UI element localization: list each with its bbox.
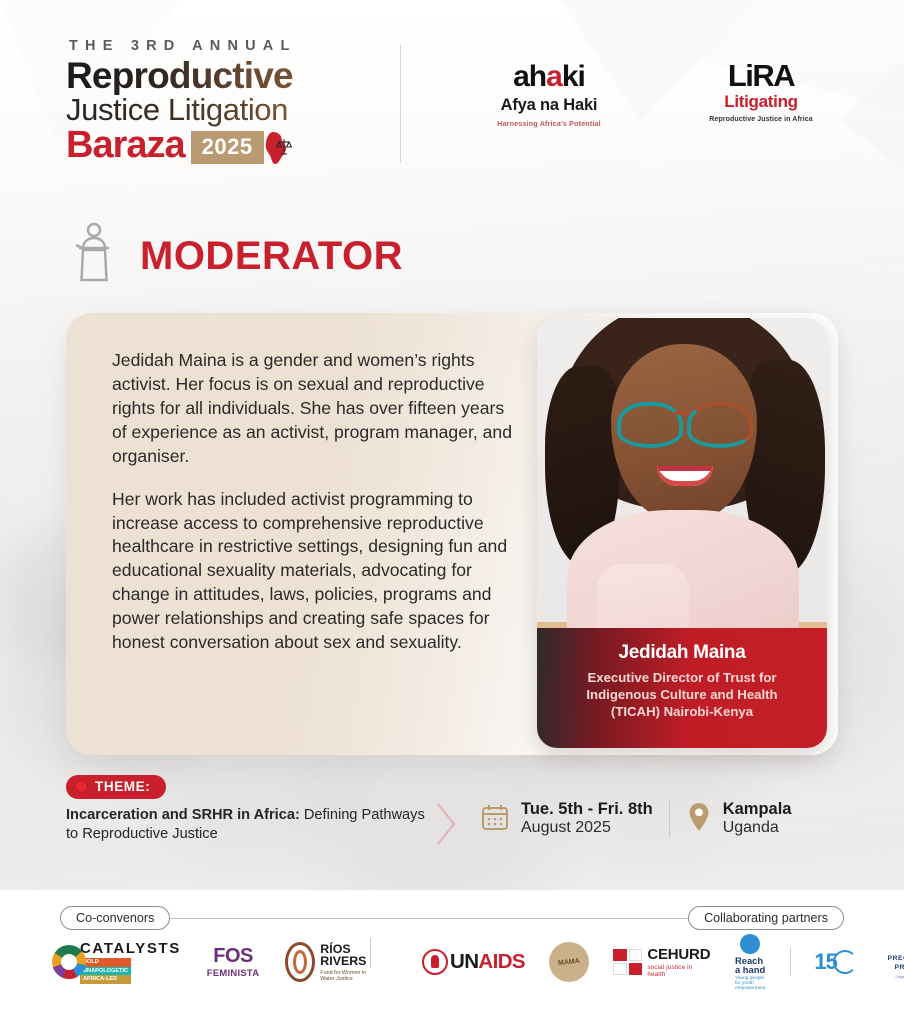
event-meta: Tue. 5th - Fri. 8th August 2025 Kampala … [480, 800, 791, 838]
event-date-line1: Tue. 5th - Fri. 8th [521, 800, 653, 818]
ahaki-word-end: ki [562, 60, 585, 93]
catalysts-wordmark: CATALYSTS BOLD UNAPOLOGETIC AFRICA-LED [80, 941, 181, 984]
event-title-line1: Reproductive [66, 57, 366, 95]
cehurd-name: CEHURD [647, 947, 711, 962]
africa-scales-icon [260, 130, 294, 164]
lira-wordmark: LiRA [728, 60, 794, 91]
logo-unaids: UNAIDS [422, 949, 525, 975]
catalysts-name: CATALYSTS [80, 941, 181, 956]
speaker-role-line2: Indigenous Culture and Health [551, 687, 813, 704]
cehurd-mark-icon [613, 949, 642, 975]
co-convenors-group: CATALYSTS BOLD UNAPOLOGETIC AFRICA-LED F… [52, 941, 372, 984]
event-location: Kampala Uganda [686, 800, 792, 838]
poster-footer: Co-convenors Collaborating partners CATA… [0, 890, 904, 1024]
poster-header: THE 3RD ANNUAL Reproductive Justice Liti… [0, 0, 904, 190]
fos-subtitle: FEMINISTA [207, 967, 260, 978]
logo-preclusion-project: THE PRECLUSION PROJECT Litigation for Ju… [881, 943, 904, 981]
event-location-text: Kampala Uganda [723, 800, 792, 838]
glasses-lens-right [687, 402, 753, 448]
collaborating-partners-group: UNAIDS MAMA CEHURD social justice in hea… [422, 934, 904, 991]
theme-block: THEME: Incarceration and SRHR in Africa:… [66, 775, 426, 845]
preclusion-subtitle: Litigation for Justice [881, 975, 904, 979]
catalysts-tagline-3: AFRICA-LED [80, 975, 131, 984]
logo-ahaki: ahaki Afya na Haki Harnessing Africa's P… [484, 62, 614, 128]
anniversary-swirl-icon [833, 950, 857, 974]
logo-cehurd: CEHURD social justice in health [613, 947, 711, 978]
logo-15-anniversary: 15 [814, 949, 856, 975]
event-date-text: Tue. 5th - Fri. 8th August 2025 [521, 800, 653, 838]
calendar-icon [480, 802, 510, 837]
unaids-emblem-icon [422, 949, 448, 975]
catalysts-tagline-1: BOLD [80, 958, 131, 967]
theme-title-bold: Incarceration and SRHR in Africa: [66, 807, 300, 823]
event-title-line2: Justice Litigation [66, 93, 366, 127]
event-kicker: THE 3RD ANNUAL [69, 38, 366, 54]
reach-a-hand-globe-icon [740, 934, 760, 954]
ahaki-word-accent: a [546, 60, 562, 93]
mama-circle-icon: MAMA [549, 942, 589, 982]
chevron-right-icon [434, 800, 460, 848]
rios-subtitle: RIVERS [320, 955, 376, 968]
lira-tagline: Reproductive Justice in Africa [700, 116, 822, 123]
event-logo: THE 3RD ANNUAL Reproductive Justice Liti… [66, 38, 366, 164]
ahaki-tagline: Harnessing Africa's Potential [484, 119, 614, 128]
rios-ring-icon [285, 942, 315, 982]
logo-rios-rivers: RÍOS RIVERS Fund for Women in Water Just… [285, 942, 376, 982]
event-location-line2: Uganda [723, 819, 792, 838]
speaker-role-line3: (TICAH) Nairobi-Kenya [551, 704, 813, 721]
event-date: Tue. 5th - Fri. 8th August 2025 [480, 800, 653, 838]
bio-paragraph-1: Jedidah Maina is a gender and women’s ri… [112, 349, 522, 469]
logo-fos-feminista: FOS FEMINISTA [207, 946, 260, 978]
event-year-badge: 2025 [191, 131, 264, 164]
event-title-line3: Baraza [66, 126, 185, 164]
mama-name: MAMA [558, 958, 580, 967]
collaborating-partners-label: Collaborating partners [688, 906, 844, 930]
header-divider [400, 45, 401, 163]
moderator-heading-row: MODERATOR [70, 222, 403, 289]
meta-divider [669, 800, 670, 838]
bio-text: Jedidah Maina is a gender and women’s ri… [112, 349, 522, 655]
theme-title: Incarceration and SRHR in Africa: Defini… [66, 806, 426, 845]
logo-lira: LiRA Litigating Reproductive Justice in … [700, 60, 822, 123]
footer-logos: CATALYSTS BOLD UNAPOLOGETIC AFRICA-LED F… [52, 934, 852, 991]
cehurd-subtitle: social justice in health [647, 964, 711, 978]
ahaki-subtitle: Afya na Haki [484, 96, 614, 115]
portrait-glasses [617, 402, 753, 442]
speaker-role-line1: Executive Director of Trust for [551, 670, 813, 687]
speaker-photo-card: Jedidah Maina Executive Director of Trus… [537, 318, 827, 748]
logo-reach-a-hand: Reach a hand Young people for youth empo… [735, 934, 766, 991]
theme-badge: THEME: [66, 775, 166, 799]
map-pin-icon [686, 801, 712, 838]
co-convenors-label: Co-convenors [60, 906, 170, 930]
event-location-line1: Kampala [723, 800, 792, 818]
unaids-name: UNAIDS [450, 950, 525, 974]
fos-name: FOS [213, 946, 253, 966]
ahaki-wordmark: ahaki [484, 62, 614, 92]
lira-subtitle: Litigating [700, 92, 822, 112]
poster-canvas: THE 3RD ANNUAL Reproductive Justice Liti… [0, 0, 904, 1024]
theme-badge-label: THEME: [95, 779, 150, 794]
speaker-role: Executive Director of Trust for Indigeno… [537, 670, 827, 721]
footer-labels: Co-convenors Collaborating partners [60, 906, 844, 930]
podium-speaker-icon [70, 222, 118, 289]
speaker-name-plate: Jedidah Maina Executive Director of Trus… [537, 628, 827, 748]
reach-a-hand-subtitle: Young people for youth empowerment [735, 976, 766, 991]
moderator-label: MODERATOR [140, 236, 403, 276]
logo-catalysts: CATALYSTS BOLD UNAPOLOGETIC AFRICA-LED [52, 941, 181, 984]
glasses-lens-left [617, 402, 683, 448]
preclusion-name: THE PRECLUSION PROJECT [881, 946, 904, 973]
speaker-name: Jedidah Maina [537, 642, 827, 664]
theme-dot-icon [76, 781, 87, 792]
footer-connector-line [170, 918, 688, 919]
ahaki-word-start: ah [513, 60, 546, 93]
logo-mama: MAMA [549, 942, 589, 982]
event-title-line3-row: Baraza 2025 [66, 126, 366, 164]
event-date-line2: August 2025 [521, 819, 653, 838]
reach-a-hand-name: Reach a hand [735, 956, 766, 975]
catalysts-tagline-2: UNAPOLOGETIC [80, 967, 131, 976]
rios-tagline: Fund for Women in Water Justice [320, 970, 376, 982]
bio-paragraph-2: Her work has included activist programmi… [112, 488, 522, 655]
catalysts-taglines: BOLD UNAPOLOGETIC AFRICA-LED [80, 958, 131, 984]
